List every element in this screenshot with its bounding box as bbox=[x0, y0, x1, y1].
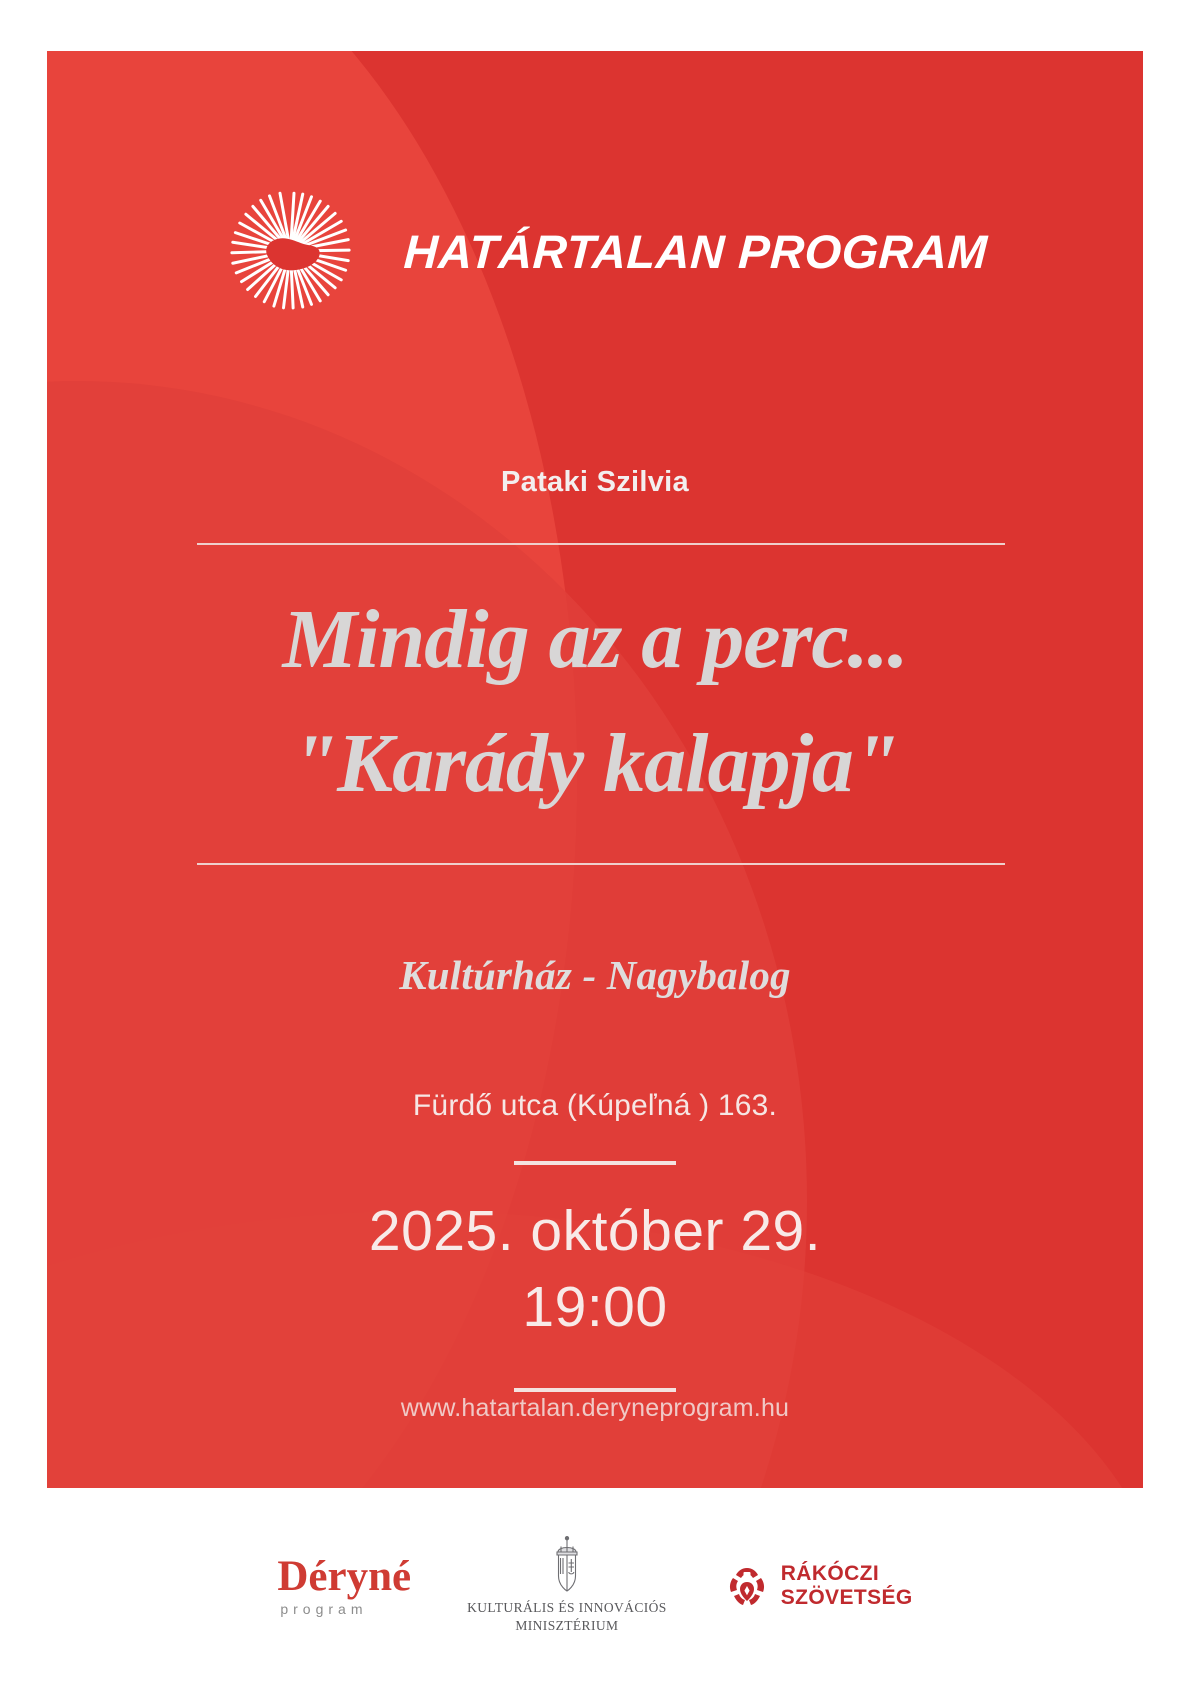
event-title-line-2: "Karády kalapja" bbox=[47, 702, 1143, 826]
rakoczi-szovetseg-logo[interactable]: RÁKÓCZI SZÖVETSÉG bbox=[723, 1562, 913, 1610]
divider-top bbox=[197, 543, 1005, 545]
sponsor-logo-bar: Déryné program bbox=[47, 1488, 1143, 1683]
divider-small-top bbox=[514, 1161, 676, 1165]
poster-red-panel: HATÁRTALAN PROGRAM Pataki Szilvia Mindig… bbox=[47, 51, 1143, 1488]
rakoczi-line-1: RÁKÓCZI bbox=[781, 1562, 913, 1586]
event-time: 19:00 bbox=[47, 1269, 1143, 1345]
poster-root: HATÁRTALAN PROGRAM Pataki Szilvia Mindig… bbox=[0, 0, 1190, 1683]
divider-small-bottom bbox=[514, 1388, 676, 1392]
rakoczi-wordmark: RÁKÓCZI SZÖVETSÉG bbox=[781, 1562, 913, 1609]
venue-name: Kultúrház - Nagybalog bbox=[47, 951, 1143, 999]
performer-name: Pataki Szilvia bbox=[47, 466, 1143, 499]
brand-header: HATÁRTALAN PROGRAM bbox=[47, 161, 1143, 341]
hungarian-coat-of-arms-icon bbox=[546, 1536, 588, 1594]
divider-bottom bbox=[197, 863, 1005, 865]
poster-content: HATÁRTALAN PROGRAM Pataki Szilvia Mindig… bbox=[47, 51, 1143, 1488]
event-datetime: 2025. október 29. 19:00 bbox=[47, 1193, 1143, 1346]
event-title: Mindig az a perc... "Karády kalapja" bbox=[47, 578, 1143, 827]
ministry-line-1: KULTURÁLIS ÉS INNOVÁCIÓS bbox=[467, 1599, 667, 1617]
ministry-line-2: MINISZTÉRIUM bbox=[515, 1617, 618, 1635]
hatartalan-sunburst-logo-icon bbox=[203, 161, 378, 341]
deryne-wordmark: Déryné bbox=[277, 1555, 411, 1598]
rakoczi-line-2: SZÖVETSÉG bbox=[781, 1586, 913, 1610]
deryne-program-logo[interactable]: Déryné program bbox=[277, 1555, 411, 1617]
venue-address: Fürdő utca (Kúpeľná ) 163. bbox=[47, 1089, 1143, 1123]
event-title-line-1: Mindig az a perc... bbox=[47, 578, 1143, 702]
ministry-logo[interactable]: KULTURÁLIS ÉS INNOVÁCIÓS MINISZTÉRIUM bbox=[467, 1536, 667, 1635]
event-date: 2025. október 29. bbox=[47, 1193, 1143, 1269]
rakoczi-emblem-icon bbox=[723, 1562, 771, 1610]
brand-title: HATÁRTALAN PROGRAM bbox=[402, 224, 988, 279]
deryne-subtitle: program bbox=[280, 1601, 367, 1617]
website-url[interactable]: www.hatartalan.deryneprogram.hu bbox=[47, 1394, 1143, 1423]
